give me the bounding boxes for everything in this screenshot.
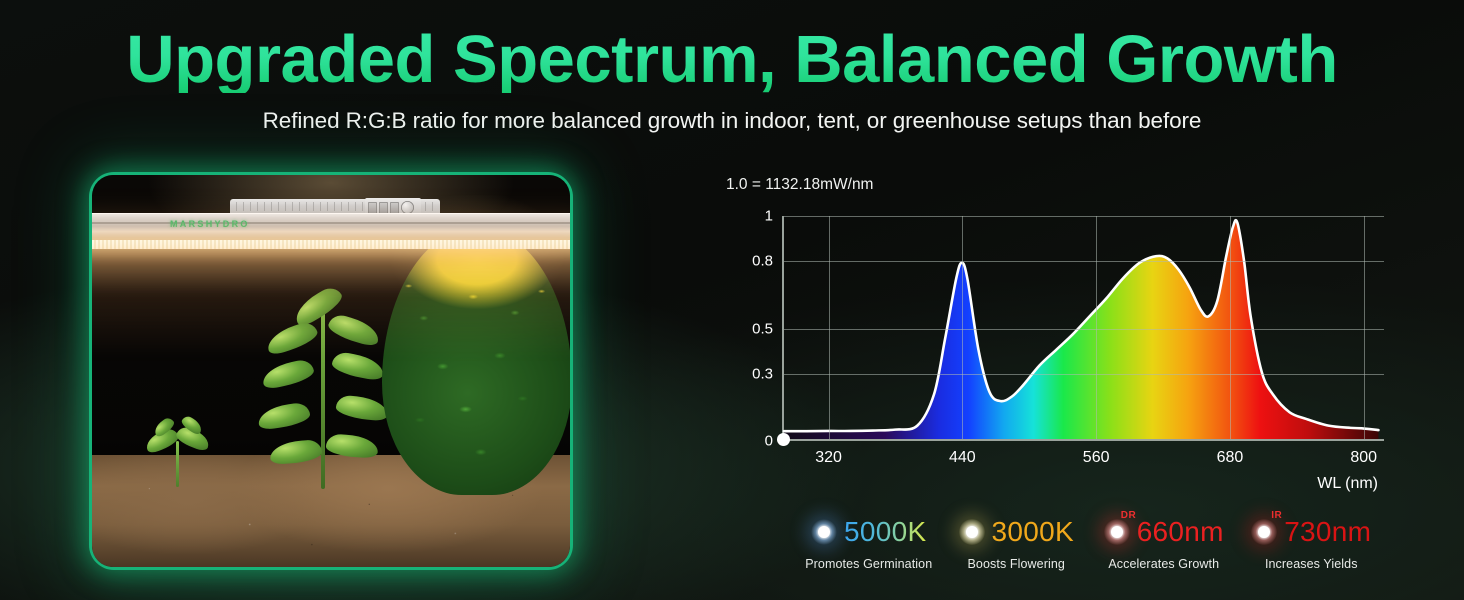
bulb-icon	[1251, 519, 1277, 545]
leaf	[335, 394, 389, 421]
seedling-plant	[147, 413, 207, 487]
origin-marker	[777, 433, 790, 446]
gridline-vertical	[829, 216, 830, 439]
gridline-horizontal	[784, 216, 1384, 217]
y-axis-tick: 0.8	[752, 253, 773, 270]
gridline-horizontal	[784, 374, 1384, 375]
led-strip	[92, 240, 570, 249]
legend-value: 730nm	[1284, 518, 1371, 546]
y-axis-tick: 0.5	[752, 320, 773, 337]
button-icon[interactable]	[379, 202, 388, 214]
brand-logo: MARSHYDRO	[170, 219, 250, 229]
y-axis-tick: 0.3	[752, 365, 773, 382]
legend-row: 730nm	[1238, 512, 1386, 552]
bulb-icon	[959, 519, 985, 545]
legend-row: 3000K	[943, 512, 1091, 552]
legend-caption: Promotes Germination	[795, 557, 943, 571]
bulb-icon	[1104, 519, 1130, 545]
gridline-vertical	[1096, 216, 1097, 439]
photo-inner: MARSHYDRO	[92, 175, 570, 567]
legend-badge-ir: IR	[1271, 510, 1282, 521]
x-axis-tick: 800	[1350, 449, 1377, 467]
product-photo: MARSHYDRO	[92, 175, 570, 567]
x-axis-tick: 680	[1217, 449, 1244, 467]
bulb-icon	[811, 519, 837, 545]
grow-light-fixture: MARSHYDRO	[92, 199, 570, 245]
gridline-vertical	[962, 216, 963, 439]
led-glow	[92, 249, 570, 359]
legend-caption: Increases Yields	[1238, 557, 1386, 571]
legend-item-3000k[interactable]: 3000K Boosts Flowering	[943, 512, 1091, 571]
legend-badge-dr: DR	[1121, 510, 1136, 521]
legend-item-730nm[interactable]: IR 730nm Increases Yields	[1238, 512, 1386, 571]
legend-value: 660nm	[1137, 518, 1224, 546]
legend-value: 5000K	[844, 518, 926, 546]
leaf	[325, 434, 378, 459]
spectrum-chart: 1.0 = 1132.18mW/nm	[718, 176, 1408, 506]
y-axis-tick: 1	[765, 208, 773, 225]
gridline-horizontal	[784, 329, 1384, 330]
y-axis-tick: 0	[765, 433, 773, 450]
button-icon[interactable]	[390, 202, 399, 214]
button-icon[interactable]	[368, 202, 377, 214]
stem	[176, 441, 179, 487]
gridline-horizontal	[784, 261, 1384, 262]
gridline-vertical	[1230, 216, 1231, 439]
chart-plot-area: WL (nm) 00.30.50.81320440560680800	[782, 216, 1384, 441]
leaf	[260, 358, 315, 390]
x-axis-tick: 560	[1083, 449, 1110, 467]
light-bar	[92, 213, 570, 243]
x-axis-title: WL (nm)	[1317, 475, 1378, 493]
page-subtitle: Refined R:G:B ratio for more balanced gr…	[0, 108, 1464, 134]
legend-row: 660nm	[1090, 512, 1238, 552]
leaf	[257, 401, 312, 430]
x-axis-tick: 320	[815, 449, 842, 467]
x-axis-tick: 440	[949, 449, 976, 467]
chart-scale-note: 1.0 = 1132.18mW/nm	[726, 176, 873, 194]
legend-value: 3000K	[992, 518, 1074, 546]
leaf	[269, 439, 322, 465]
legend-item-660nm[interactable]: DR 660nm Accelerates Growth	[1090, 512, 1238, 571]
gridline-vertical	[1364, 216, 1365, 439]
spectrum-curve	[784, 216, 1384, 439]
legend-caption: Boosts Flowering	[943, 557, 1091, 571]
promo-banner: Upgraded Spectrum, Balanced Growth Refin…	[0, 0, 1464, 600]
legend-row: 5000K	[795, 512, 943, 552]
legend-item-5000k[interactable]: 5000K Promotes Germination	[795, 512, 943, 571]
legend-caption: Accelerates Growth	[1090, 557, 1238, 571]
page-title: Upgraded Spectrum, Balanced Growth	[0, 26, 1464, 93]
spectrum-legend: 5000K Promotes Germination 3000K Boosts …	[795, 512, 1385, 571]
